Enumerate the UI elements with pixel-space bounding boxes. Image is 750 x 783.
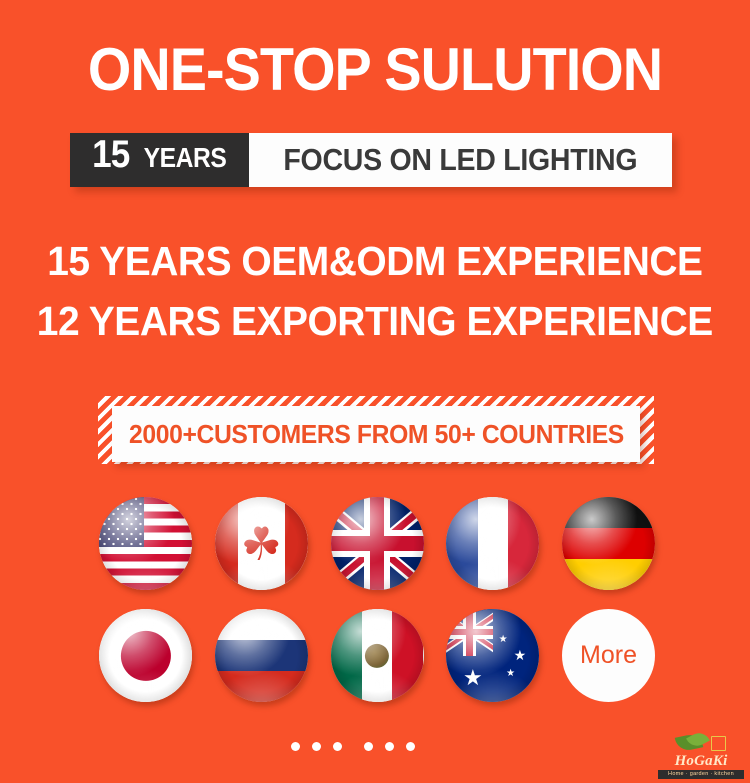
more-button-circle[interactable]: More: [562, 609, 655, 702]
flag-fr-icon: [446, 497, 539, 590]
logo-brand-name: HoGaKi: [658, 753, 744, 769]
focus-statement-text: FOCUS ON LED LIGHTING: [284, 142, 638, 178]
experience-line-exporting: 12 YEARS EXPORTING EXPERIENCE: [0, 298, 750, 345]
more-countries-button[interactable]: More: [562, 609, 655, 702]
dot-group-2: [364, 742, 415, 751]
customers-banner-box: 2000+CUSTOMERS FROM 50+ COUNTRIES: [112, 406, 640, 462]
years-badge: 15 YEARS: [70, 133, 249, 187]
years-focus-ribbon: 15 YEARS FOCUS ON LED LIGHTING: [70, 133, 672, 187]
flag-united-states[interactable]: [99, 497, 192, 590]
focus-statement: FOCUS ON LED LIGHTING: [249, 133, 672, 187]
pagination-dot[interactable]: [406, 742, 415, 751]
years-label: YEARS: [144, 142, 227, 174]
customers-banner: 2000+CUSTOMERS FROM 50+ COUNTRIES: [98, 396, 654, 468]
star-icon: ★: [514, 648, 527, 662]
flag-france[interactable]: [446, 497, 539, 590]
flag-ca-icon: ☘: [215, 497, 308, 590]
flag-de-icon: [562, 497, 655, 590]
pagination-dot[interactable]: [291, 742, 300, 751]
experience-line-exporting-text: 12 YEARS EXPORTING EXPERIENCE: [37, 298, 713, 345]
flag-us-icon: [99, 497, 192, 590]
pagination-dot[interactable]: [364, 742, 373, 751]
flag-mx-icon: [331, 609, 424, 702]
flag-australia[interactable]: ★ ★ ★ ★: [446, 609, 539, 702]
flag-mexico[interactable]: [331, 609, 424, 702]
flag-au-icon: ★ ★ ★ ★: [446, 609, 539, 702]
star-icon: ★: [506, 669, 515, 679]
logo-mark-icon: [658, 732, 744, 754]
customers-banner-text: 2000+CUSTOMERS FROM 50+ COUNTRIES: [129, 419, 624, 450]
dot-group-1: [291, 742, 342, 751]
flag-uk-icon: [331, 497, 424, 590]
flag-ru-icon: [215, 609, 308, 702]
pagination-dot[interactable]: [312, 742, 321, 751]
experience-line-oem: 15 YEARS OEM&ODM EXPERIENCE: [0, 238, 750, 285]
flag-row-2: ★ ★ ★ ★ More: [99, 609, 655, 702]
flag-russia[interactable]: [215, 609, 308, 702]
flag-jp-icon: [99, 609, 192, 702]
brand-logo: HoGaKi Home · garden · kitchen: [658, 732, 744, 779]
flag-united-kingdom[interactable]: [331, 497, 424, 590]
pagination-dot[interactable]: [385, 742, 394, 751]
logo-tagline: Home · garden · kitchen: [658, 770, 744, 779]
house-icon: [711, 736, 726, 751]
flag-germany[interactable]: [562, 497, 655, 590]
maple-leaf-icon: ☘: [241, 521, 282, 567]
experience-line-oem-text: 15 YEARS OEM&ODM EXPERIENCE: [47, 238, 702, 285]
pagination-dots: [0, 742, 728, 751]
star-icon: ★: [463, 667, 483, 689]
page-title: ONE-STOP SULUTION: [26, 38, 724, 102]
star-icon: ★: [499, 635, 508, 645]
flag-row-1: ☘: [99, 497, 655, 590]
flag-canada[interactable]: ☘: [215, 497, 308, 590]
more-button-label: More: [580, 641, 637, 670]
flag-japan[interactable]: [99, 609, 192, 702]
pagination-dot[interactable]: [333, 742, 342, 751]
years-number: 15: [92, 133, 129, 177]
country-flag-grid: ☘: [99, 497, 655, 721]
